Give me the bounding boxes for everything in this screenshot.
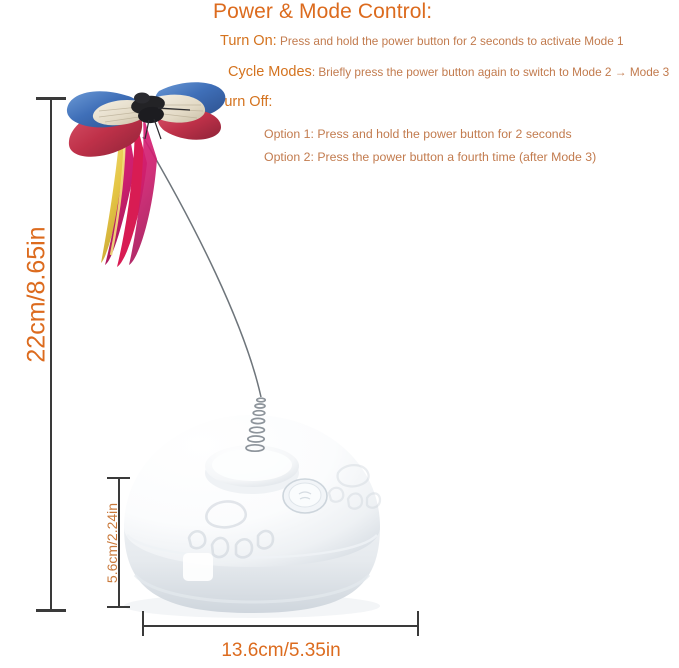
feather-butterfly [67, 82, 225, 267]
overall-height-cap-bottom [36, 609, 66, 612]
overall-height-cap-top [36, 97, 66, 100]
overall-height-label: 22cm/8.65in [23, 195, 52, 395]
product-infographic: Power & Mode Control: Turn On: Press and… [0, 0, 679, 668]
instruction-lead-turn-on: Turn On: [220, 33, 277, 49]
flex-wire [143, 137, 261, 397]
spring-wire-arm [143, 137, 265, 451]
base-width-label: 13.6cm/5.35in [143, 640, 419, 662]
instruction-line-turn-on: Turn On: Press and hold the power button… [220, 32, 624, 50]
center-hub-cap [205, 445, 299, 494]
base-width-cap-left [142, 611, 144, 636]
base-width-cap-right [417, 611, 419, 636]
instruction-text-turn-on: Press and hold the power button for 2 se… [277, 34, 624, 48]
panel-title: Power & Mode Control: [213, 0, 432, 24]
base-height-label: 5.6cm/2.24in [104, 478, 120, 608]
base-gloss-highlight [183, 553, 213, 581]
base-width-rule [143, 625, 419, 627]
power-button-circle[interactable] [283, 479, 327, 513]
